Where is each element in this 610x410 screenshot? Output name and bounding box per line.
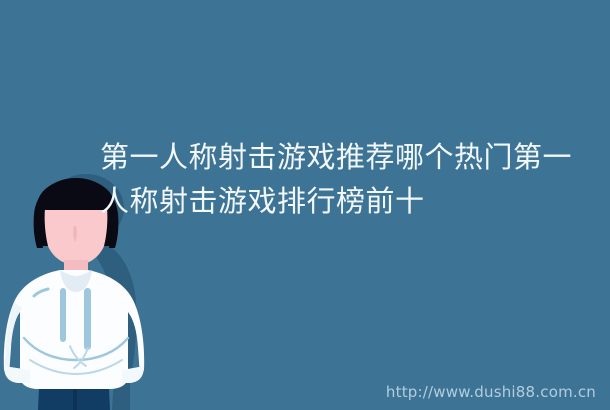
face bbox=[43, 210, 109, 286]
drawstring-right bbox=[84, 288, 91, 350]
hoodie bbox=[4, 270, 144, 389]
drawstring-left bbox=[60, 288, 66, 342]
site-url-watermark: http://www.dushi88.com.cn bbox=[386, 383, 596, 401]
headline-text: 第一人称射击游戏推荐哪个热门第一人称射击游戏排行榜前十 bbox=[100, 136, 598, 224]
pocket-seam bbox=[24, 338, 128, 360]
pants bbox=[38, 366, 110, 410]
article-cover-banner: 第一人称射击游戏推荐哪个热门第一人称射击游戏排行榜前十 http://www.d… bbox=[0, 0, 610, 410]
